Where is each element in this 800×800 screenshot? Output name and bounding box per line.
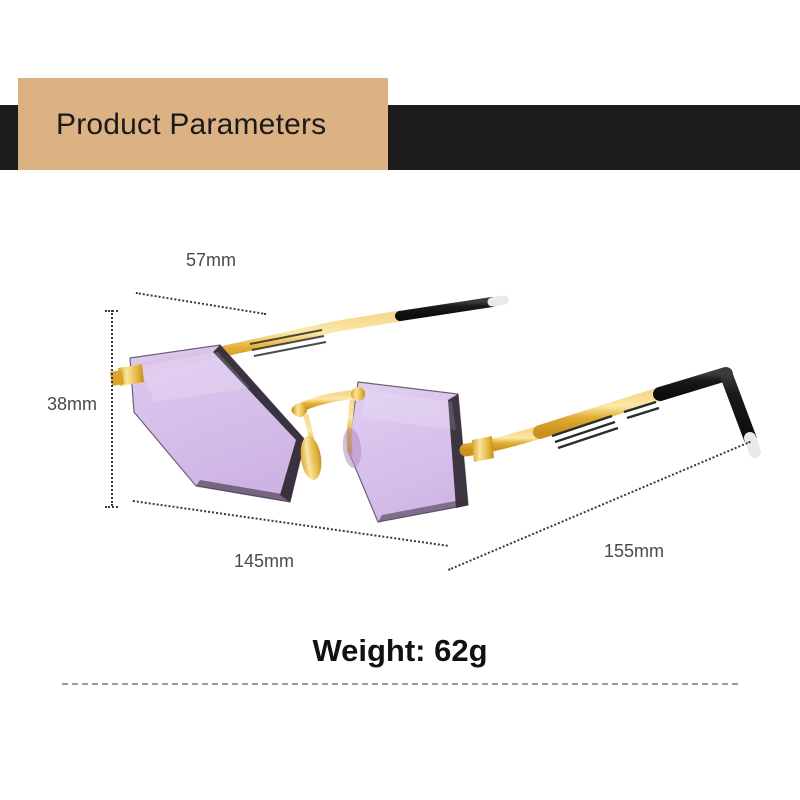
near-temple-arm	[466, 374, 755, 462]
product-image-sunglasses	[100, 290, 780, 540]
dimension-label-57mm: 57mm	[186, 249, 236, 271]
leader-tick-bottom	[105, 506, 118, 508]
bridge-and-nose-pads	[293, 387, 365, 481]
leader-tick-top	[105, 310, 118, 312]
left-end-piece	[110, 364, 144, 386]
dimension-label-155mm: 155mm	[604, 540, 664, 562]
left-lens	[130, 345, 305, 502]
product-parameters-page: Product Parameters	[0, 0, 800, 800]
weight-divider	[62, 683, 738, 685]
dimension-label-145mm: 145mm	[234, 550, 294, 572]
dimension-label-38mm: 38mm	[47, 393, 97, 415]
page-title: Product Parameters	[56, 107, 326, 143]
leader-line-38mm	[111, 310, 113, 506]
right-lens	[348, 382, 468, 522]
weight-text: Weight: 62g	[0, 632, 800, 670]
